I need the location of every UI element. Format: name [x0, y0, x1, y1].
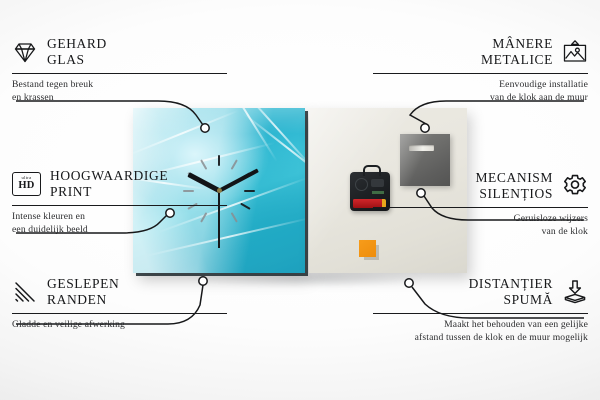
framed-picture-hanging-icon — [562, 39, 588, 65]
feature-subtitle: Eenvoudige installatie van de klok aan d… — [373, 79, 588, 105]
feature-title-line2: GLAS — [47, 52, 85, 67]
ultra-hd-icon: ultra HD — [12, 172, 41, 196]
feature-title-line1: MÂNERE — [492, 36, 553, 51]
infographic-canvas: GEHARD GLAS Bestand tegen breuk en krass… — [0, 0, 600, 400]
feature-sub-line1: Maakt het behouden van een gelijke — [444, 319, 588, 330]
feature-title-line2: SPUMĂ — [503, 292, 553, 307]
feature-subtitle: Maakt het behouden van een gelijke afsta… — [373, 319, 588, 345]
divider — [12, 73, 227, 74]
feature-sub-line2: en krassen — [12, 92, 54, 103]
feature-title: HOOGWAARDIGE PRINT — [50, 168, 168, 200]
feature-subtitle: Bestand tegen breuk en krassen — [12, 79, 227, 105]
feature-header: DISTANȚIER SPUMĂ — [373, 276, 588, 308]
feature-title-line2: RANDEN — [47, 292, 107, 307]
feature-subtitle: Geruisloze wijzers van de klok — [373, 213, 588, 239]
feature-title: MÂNERE METALICE — [481, 36, 553, 68]
feature-title-line1: DISTANȚIER — [469, 276, 553, 291]
feature-mecanism-silentios[interactable]: MECANISM SILENȚIOS Geruisloze wijzers va… — [373, 170, 588, 239]
divider — [12, 205, 227, 206]
feature-geslepen-randen[interactable]: GESLEPEN RANDEN Gladde en veilige afwerk… — [12, 276, 227, 332]
divider — [373, 207, 588, 208]
hanger-slot — [409, 145, 434, 151]
feature-sub-line2: afstand tussen de klok en de muur mogeli… — [415, 332, 588, 343]
feature-title-line2: PRINT — [50, 184, 92, 199]
beveled-edge-icon — [12, 279, 38, 305]
feature-sub-line2: van de klok aan de muur — [490, 92, 588, 103]
feature-title-line2: SILENȚIOS — [479, 186, 553, 201]
feature-sub-line1: Eenvoudige installatie — [499, 79, 588, 90]
feature-subtitle: Gladde en veilige afwerking — [12, 319, 227, 332]
feature-sub-line2: van de klok — [542, 226, 588, 237]
mechanism-dial — [355, 178, 368, 191]
ultra-hd-bottom-label: HD — [18, 181, 34, 192]
feature-title: GESLEPEN RANDEN — [47, 276, 119, 308]
feature-title: GEHARD GLAS — [47, 36, 107, 68]
diamond-icon — [12, 39, 38, 65]
feature-title-line1: HOOGWAARDIGE — [50, 168, 168, 183]
feature-title-line1: GESLEPEN — [47, 276, 119, 291]
feature-header: GESLEPEN RANDEN — [12, 276, 227, 308]
foam-spacer — [359, 240, 376, 257]
feature-subtitle: Intense kleuren en een duidelijk beeld — [12, 211, 227, 237]
divider — [373, 313, 588, 314]
feature-hoogwaardige-print[interactable]: ultra HD HOOGWAARDIGE PRINT Intense kleu… — [12, 168, 227, 237]
feature-title-line2: METALICE — [481, 52, 553, 67]
divider — [373, 73, 588, 74]
feature-gehard-glas[interactable]: GEHARD GLAS Bestand tegen breuk en krass… — [12, 36, 227, 105]
feature-title: DISTANȚIER SPUMĂ — [469, 276, 553, 308]
feature-header: MÂNERE METALICE — [373, 36, 588, 68]
feature-sub-line1: Gladde en veilige afwerking — [12, 319, 125, 330]
feature-header: MECANISM SILENȚIOS — [373, 170, 588, 202]
feature-header: GEHARD GLAS — [12, 36, 227, 68]
feature-sub-line2: een duidelijk beeld — [12, 224, 88, 235]
feature-manere-metalice[interactable]: MÂNERE METALICE Eenvoudige installatie v… — [373, 36, 588, 105]
feature-title: MECANISM SILENȚIOS — [475, 170, 553, 202]
arrow-onto-layers-icon — [562, 279, 588, 305]
feature-header: ultra HD HOOGWAARDIGE PRINT — [12, 168, 227, 200]
feature-sub-line1: Geruisloze wijzers — [514, 213, 588, 224]
feature-sub-line1: Bestand tegen breuk — [12, 79, 93, 90]
divider — [12, 313, 227, 314]
feature-title-line1: GEHARD — [47, 36, 107, 51]
feature-title-line1: MECANISM — [475, 170, 553, 185]
feature-sub-line1: Intense kleuren en — [12, 211, 85, 222]
feature-distantier-spuma[interactable]: DISTANȚIER SPUMĂ Maakt het behouden van … — [373, 276, 588, 345]
gear-icon — [562, 173, 588, 199]
